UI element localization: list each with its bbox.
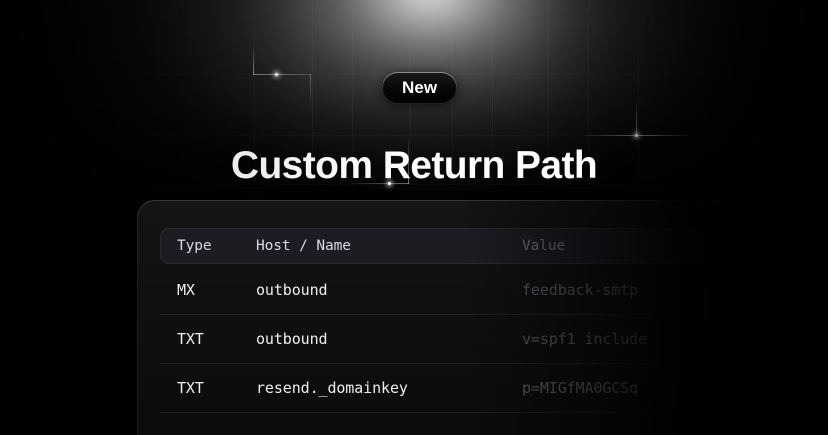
cell-host: outbound xyxy=(256,330,327,348)
table-row[interactable]: TXT outbound v=spf1 include xyxy=(160,314,720,364)
cell-value: v=spf1 include xyxy=(522,330,647,348)
column-header-type: Type xyxy=(177,238,212,254)
cell-host: resend._domainkey xyxy=(256,379,408,397)
dns-table-header-row: Type Host / Name Value xyxy=(160,228,720,264)
dns-records-card: Type Host / Name Value MX outbound feedb… xyxy=(137,200,729,435)
bracket-glow-dot-icon xyxy=(275,73,278,76)
table-row[interactable]: TXT resend._domainkey p=MIGfMA0GCSq xyxy=(160,363,720,413)
column-header-host: Host / Name xyxy=(256,238,351,254)
cell-type: MX xyxy=(177,281,195,299)
cell-type: TXT xyxy=(177,379,204,397)
table-row-partial xyxy=(160,412,720,435)
cell-value: feedback-smtp xyxy=(522,281,638,299)
bracket-glow-dot-icon xyxy=(635,134,638,137)
cell-type: TXT xyxy=(177,330,204,348)
cell-host: outbound xyxy=(256,281,327,299)
table-row[interactable]: MX outbound feedback-smtp xyxy=(160,265,720,315)
column-header-value: Value xyxy=(522,238,565,254)
new-badge: New xyxy=(382,72,457,104)
page-title: Custom Return Path xyxy=(0,143,828,189)
corner-bracket-right-icon xyxy=(636,102,696,148)
cell-value: p=MIGfMA0GCSq xyxy=(522,379,638,397)
hero-banner: New Custom Return Path Type Host / Name … xyxy=(0,0,828,435)
corner-bracket-top-left-icon xyxy=(253,48,313,88)
